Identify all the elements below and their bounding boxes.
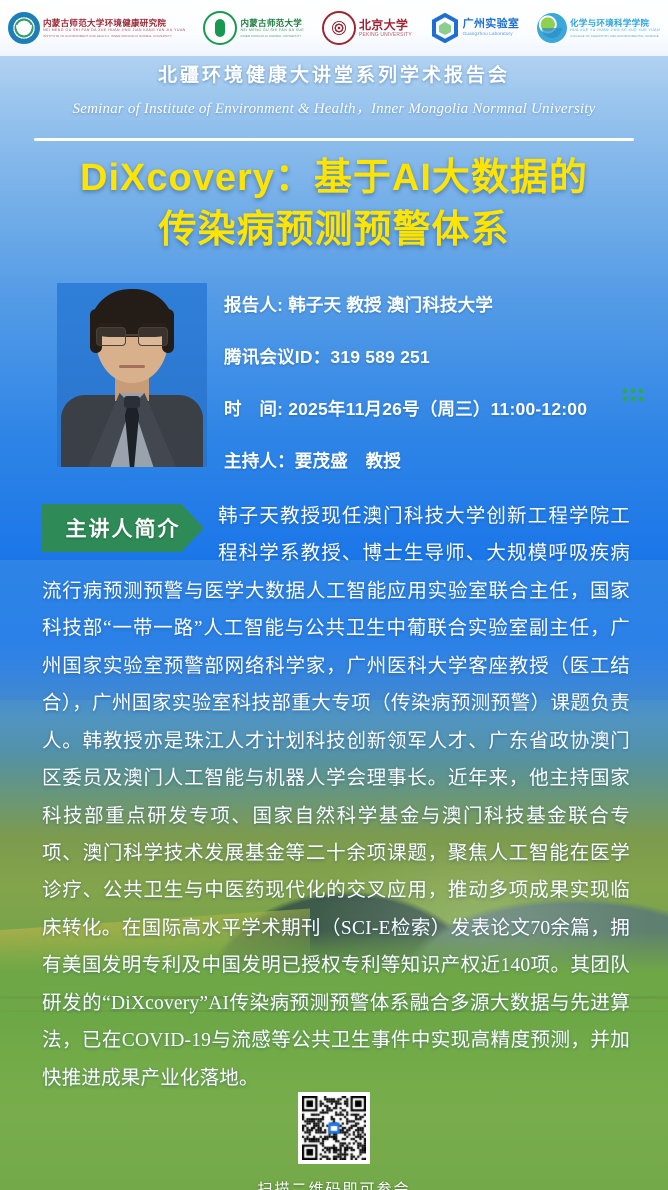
seminar-series-header: 北疆环境健康大讲堂系列学术报告会 Seminar of Institute of… [0,60,668,118]
logo-name-cn: 广州实验室 [463,19,520,30]
logo-school-of-chemistry-environmental-science: 化学与环境科学学院 HUA XUE YU HUAN JING KE XUE XU… [537,13,660,43]
logo-inner-mongolia-normal-university: 内蒙古师范大学 NEI MENG GU SHI FAN DA XUE INNER… [203,11,304,45]
series-title-en: Seminar of Institute of Environment & He… [0,97,668,118]
logo-name-en: INSTITUTE OF ENVIRONMENT AND HEALTH, INN… [43,35,186,38]
portrait-eyebrow-left [98,323,122,326]
logo-name-pinyin: HUA XUE YU HUAN JING KE XUE XUE YUAN [570,29,660,33]
event-details: 报告人: 韩子天 教授 澳门科技大学 腾讯会议ID：319 589 251 时 … [224,292,644,500]
logo-name-pinyin: NEI MENG GU SHI FAN DA XUE [240,29,304,33]
host-line: 主持人：要茂盛 教授 [224,448,644,473]
event-time-line: 时 间: 2025年11月26号（周三）11:00-12:00 [224,396,644,421]
page-title: DiXcovery：基于AI大数据的 传染病预测预警体系 [0,152,668,257]
logo-inner-mongolia-normal-university-institute: 内蒙古师范大学环境健康研究院 NEI MENG GU SHI FAN DA XU… [8,12,186,44]
speaker-portrait-photo [57,283,207,467]
qr-code[interactable] [298,1092,370,1164]
logo-name-pinyin: NEI MENG GU SHI FAN DA XUE HUAN JING JIA… [43,29,186,33]
portrait-glasses [95,327,169,345]
institute-emblem-icon [8,12,40,44]
portrait-eyebrow-right [142,323,166,326]
logo-guangzhou-laboratory: 广州实验室 Guangzhou Laboratory [430,13,520,43]
logo-name-cn: 内蒙古师范大学 [240,19,304,28]
peking-university-seal-icon [322,11,356,45]
logo-name-en: PEKING UNIVERSITY [359,33,412,38]
glasses-lens-right [138,327,168,346]
glasses-lens-left [96,327,126,346]
logo-name-cn: 化学与环境科学学院 [570,19,660,28]
logo-name-cn: 内蒙古师范大学环境健康研究院 [43,19,186,28]
meeting-id-line: 腾讯会议ID：319 589 251 [224,344,644,369]
glasses-bridge [125,334,139,336]
portrait-mouth [119,365,145,368]
qr-section: 扫描二维码即可参会 [0,1092,668,1190]
logo-name-en: INNER MONGOLIA NORMAL UNIVERSITY [240,35,304,38]
college-emblem-icon [537,13,567,43]
bio-paragraph: 韩子天教授现任澳门科技大学创新工程学院工程科学系教授、博士生导师、大规模呼吸疾病… [42,498,630,1097]
logo-peking-university: 北京大学 PEKING UNIVERSITY [322,11,412,45]
portrait-tie-knot [124,396,140,408]
title-line-2: 传染病预测预警体系 [0,204,668,256]
seminar-poster: 内蒙古师范大学环境健康研究院 NEI MENG GU SHI FAN DA XU… [0,0,668,1190]
title-line-1: DiXcovery：基于AI大数据的 [80,157,588,199]
university-seal-icon [203,11,237,45]
presenter-line: 报告人: 韩子天 教授 澳门科技大学 [224,292,644,317]
green-dots-decoration-icon [622,388,644,404]
bio-badge: 主讲人简介 [42,504,204,552]
logo-name-en: COLLEGE OF CHEMISTRY AND ENVIRONMENTAL S… [570,35,660,38]
header-divider [34,138,634,141]
logo-name-cn: 北京大学 [359,19,412,31]
speaker-bio-section: 主讲人简介 韩子天教授现任澳门科技大学创新工程学院工程科学系教授、博士生导师、大… [42,498,630,1097]
guangzhou-laboratory-hex-icon [430,13,460,43]
logo-name-en: Guangzhou Laboratory [463,32,520,37]
series-title-cn: 北疆环境健康大讲堂系列学术报告会 [0,60,668,87]
qr-caption: 扫描二维码即可参会 [0,1178,668,1190]
partner-logo-bar: 内蒙古师范大学环境健康研究院 NEI MENG GU SHI FAN DA XU… [0,0,668,56]
